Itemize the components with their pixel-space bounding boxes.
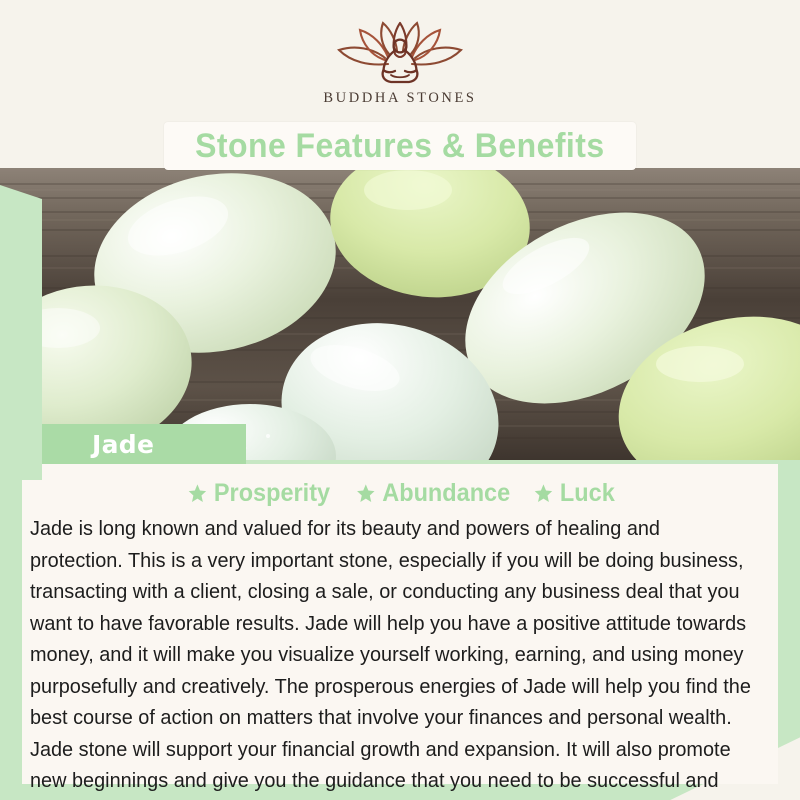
stone-description: Jade is long known and valued for its be… (30, 514, 752, 800)
star-icon (187, 483, 207, 504)
lotus-meditation-icon (325, 18, 475, 86)
content-panel: Prosperity Abundance Luck Jade is long k… (22, 464, 778, 784)
benefits-list: Prosperity Abundance Luck (22, 464, 778, 510)
page-title: Stone Features & Benefits (195, 129, 605, 163)
infographic-card: BUDDHA STONES Stone Features & Benefits (0, 0, 800, 800)
stone-photo (0, 168, 800, 460)
decorative-green-band-left (0, 185, 42, 480)
stone-name: Jade (92, 430, 154, 459)
jade-tumbled-stones-photo (0, 168, 800, 460)
benefit-item: Prosperity (187, 481, 330, 506)
benefit-label: Luck (560, 481, 615, 506)
star-icon (356, 483, 376, 504)
brand-logo: BUDDHA STONES (0, 18, 800, 107)
benefit-label: Abundance (382, 481, 510, 506)
benefit-label: Prosperity (214, 481, 330, 506)
benefit-item: Luck (533, 481, 614, 506)
page-title-box: Stone Features & Benefits (164, 122, 636, 170)
brand-name: BUDDHA STONES (323, 90, 476, 107)
benefit-item: Abundance (356, 481, 510, 506)
star-icon (533, 483, 553, 504)
